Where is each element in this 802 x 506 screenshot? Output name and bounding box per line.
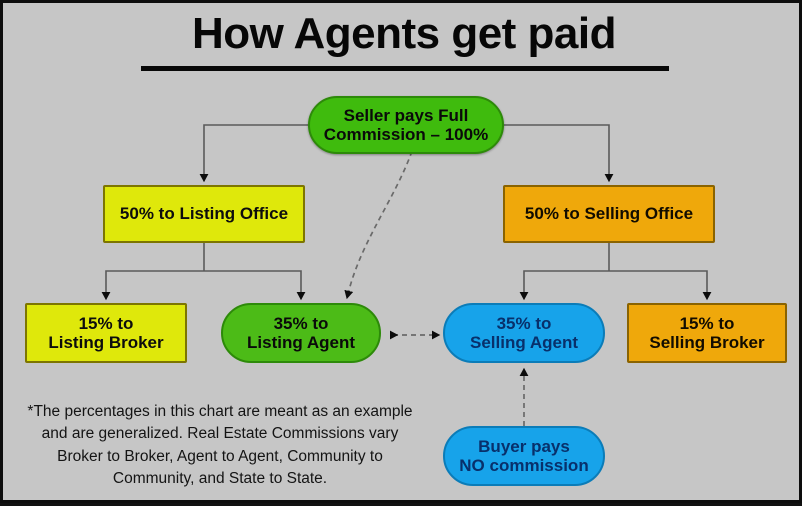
node-selling-broker[interactable]: 15% to Selling Broker: [627, 303, 787, 363]
edge-listing-office-to-listing-agent: [204, 271, 301, 295]
slide-canvas: How Agents get paid: [0, 0, 802, 503]
node-listing-agent[interactable]: 35% to Listing Agent: [221, 303, 381, 363]
page-title: How Agents get paid: [3, 11, 802, 57]
footnote-text: *The percentages in this chart are meant…: [11, 401, 429, 491]
edge-seller-to-selling-office: [504, 125, 609, 177]
node-selling-office[interactable]: 50% to Selling Office: [503, 185, 715, 243]
edge-listing-office-to-listing-broker: [106, 271, 204, 295]
edge-selling-office-to-selling-agent: [524, 271, 609, 295]
node-listing-broker[interactable]: 15% to Listing Broker: [25, 303, 187, 363]
node-buyer-pays-no-commission[interactable]: Buyer pays NO commission: [443, 426, 605, 486]
node-seller-pays-full-commission[interactable]: Seller pays Full Commission – 100%: [308, 96, 504, 154]
edge-seller-to-listing-office: [204, 125, 308, 177]
node-listing-office[interactable]: 50% to Listing Office: [103, 185, 305, 243]
edge-selling-office-to-selling-broker: [609, 271, 707, 295]
page-title-text: How Agents get paid: [192, 11, 616, 57]
title-underline: [141, 66, 669, 71]
edge-seller-to-listing-agent-dashed: [348, 151, 412, 294]
node-selling-agent[interactable]: 35% to Selling Agent: [443, 303, 605, 363]
